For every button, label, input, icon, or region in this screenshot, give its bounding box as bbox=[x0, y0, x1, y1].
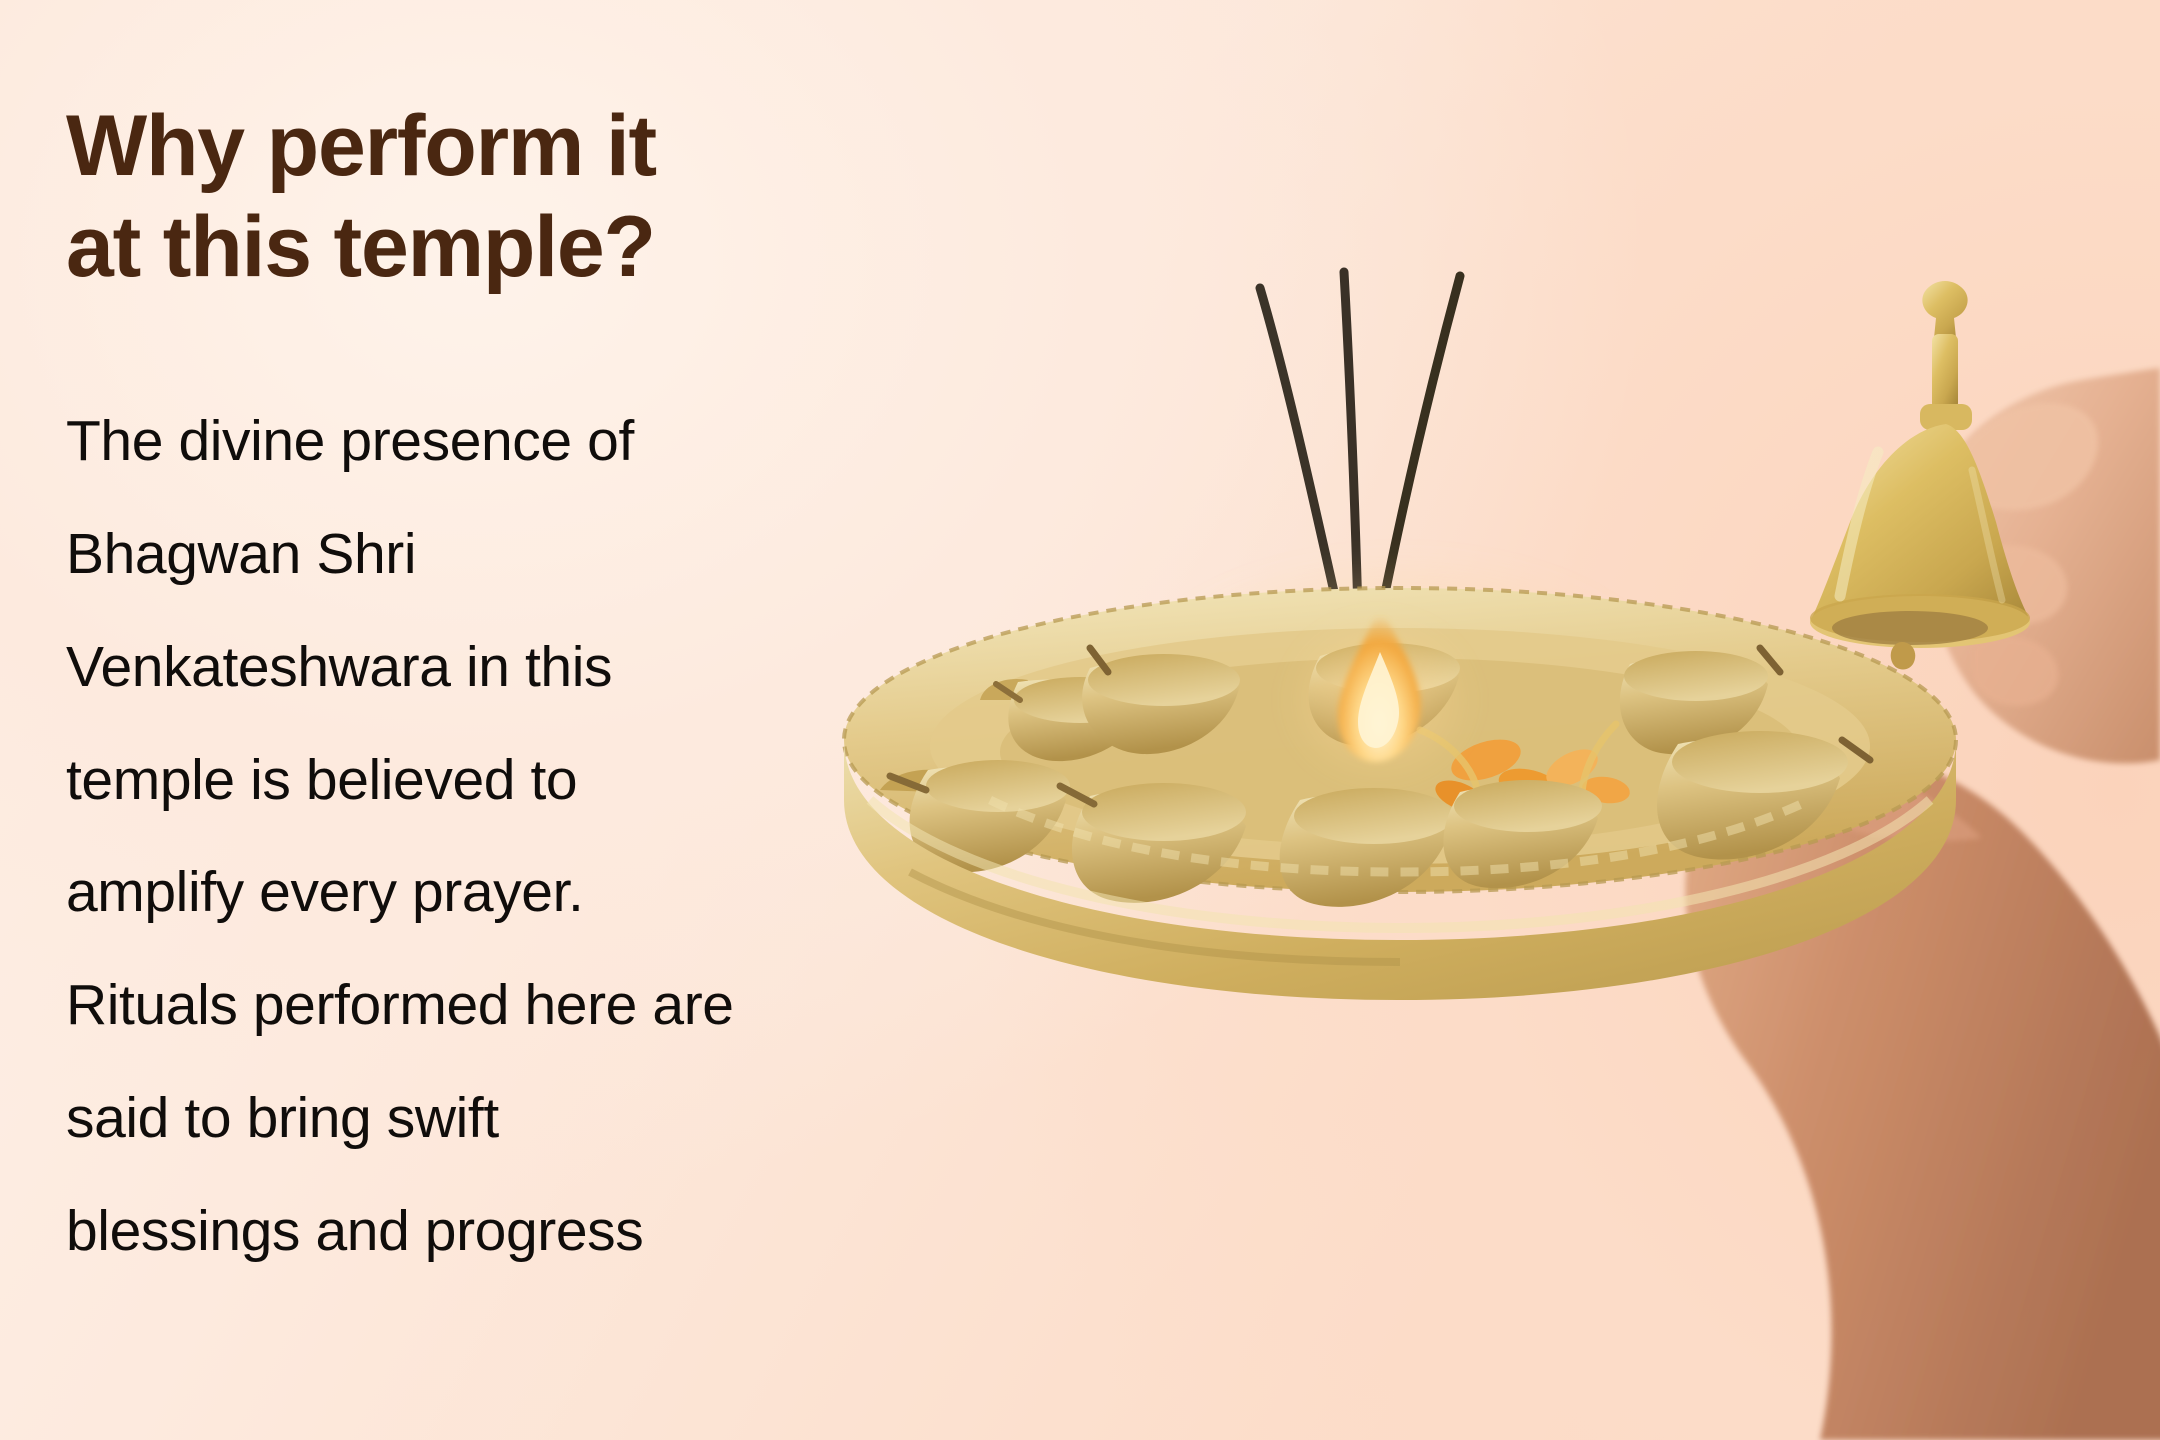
body-line-3: Venkateshwara in this bbox=[66, 635, 612, 699]
headline-line-2: at this temple? bbox=[66, 197, 846, 298]
text-column: Why perform it at this temple? The divin… bbox=[66, 96, 846, 1288]
promo-slide: Why perform it at this temple? The divin… bbox=[0, 0, 2160, 1440]
puja-illustration bbox=[760, 0, 2160, 1440]
body-line-8: blessings and progress bbox=[66, 1199, 643, 1263]
body-line-2: Bhagwan Shri bbox=[66, 522, 416, 586]
body-line-5: amplify every prayer. bbox=[66, 860, 583, 924]
headline-line-1: Why perform it bbox=[66, 96, 846, 197]
diya-lamp bbox=[1060, 783, 1246, 903]
body-paragraph: The divine presence of Bhagwan Shri Venk… bbox=[66, 299, 786, 1288]
body-line-7: said to bring swift bbox=[66, 1086, 499, 1150]
page-title: Why perform it at this temple? bbox=[66, 96, 846, 299]
body-line-1: The divine presence of bbox=[66, 409, 634, 473]
puja-thali-photo bbox=[760, 0, 2160, 1440]
body-line-6: Rituals performed here are bbox=[66, 973, 734, 1037]
body-line-4: temple is believed to bbox=[66, 748, 577, 812]
